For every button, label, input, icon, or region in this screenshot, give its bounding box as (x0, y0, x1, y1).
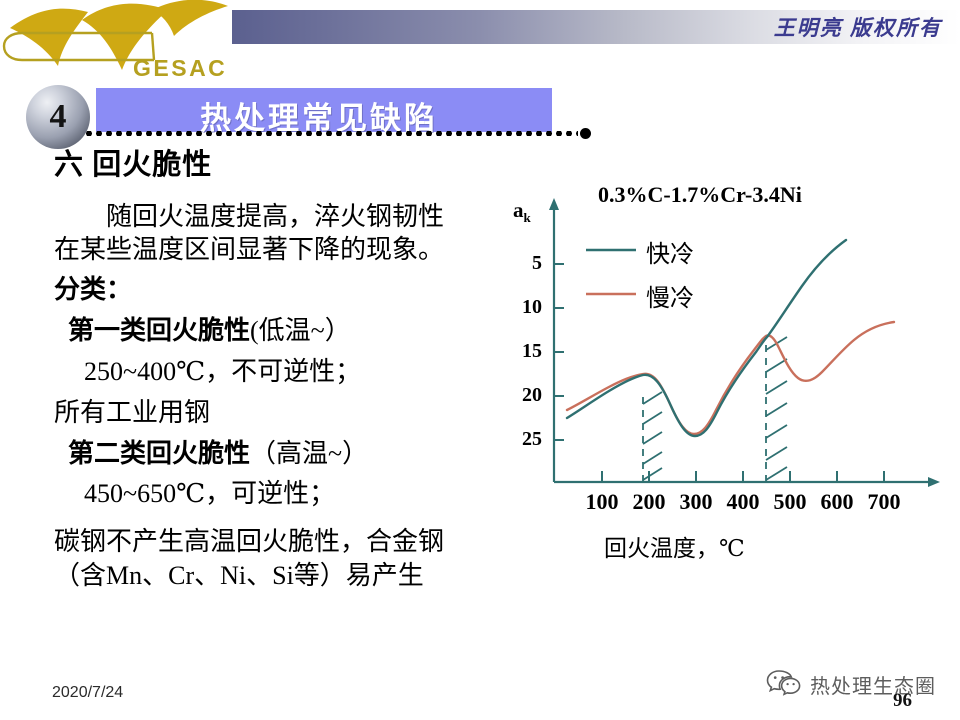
toughness-vs-tempering-temperature-chart: 0.3%C-1.7%Cr-3.4Ni ak (504, 182, 956, 562)
type1-title: 第一类回火脆性(低温~） (54, 314, 506, 348)
type2-range: 450~650℃，可逆性； (54, 477, 506, 511)
definition-line-1: 随回火温度提高，淬火钢韧性 (54, 200, 506, 233)
ytick-20: 20 (508, 384, 542, 407)
copyright-text: 王明亮 版权所有 (774, 12, 942, 42)
wechat-icon (766, 668, 802, 701)
ytick-15: 15 (508, 340, 542, 363)
footer-wechat-label: 热处理生态圈 (810, 670, 936, 699)
legend-label-slow-cool: 慢冷 (646, 278, 694, 313)
classification-label: 分类： (54, 273, 506, 307)
gesac-wordmark: GESAC (133, 55, 227, 82)
legend-label-fast-cool: 快冷 (646, 234, 694, 269)
xtick-500: 500 (763, 489, 817, 515)
type1-title-bold: 第一类回火脆性 (68, 316, 250, 345)
definition-line-2: 在某些温度区间显著下降的现象。 (54, 233, 506, 266)
note-line-1: 碳钢不产生高温回火脆性，合金钢 (54, 525, 506, 559)
xtick-700: 700 (857, 489, 911, 515)
type2-title-bold: 第二类回火脆性 (68, 439, 250, 468)
footer-date: 2020/7/24 (52, 684, 123, 702)
ytick-5: 5 (508, 252, 542, 275)
page-number: 96 (893, 690, 912, 712)
subsection-heading: 六 回火脆性 (54, 148, 506, 183)
content-column: 六 回火脆性 随回火温度提高，淬火钢韧性 在某些温度区间显著下降的现象。 分类：… (54, 148, 506, 593)
type1-title-suffix: (低温~） (250, 316, 351, 345)
xtick-300: 300 (669, 489, 723, 515)
title-dot-terminator (580, 128, 591, 139)
xtick-100: 100 (575, 489, 629, 515)
xtick-400: 400 (716, 489, 770, 515)
ytick-25: 25 (508, 428, 542, 451)
xtick-200: 200 (622, 489, 676, 515)
title-dotted-rule (84, 131, 578, 136)
type2-title: 第二类回火脆性（高温~） (54, 437, 506, 471)
type1-range: 250~400℃，不可逆性； (54, 355, 506, 389)
type2-title-suffix: （高温~） (250, 439, 368, 468)
section-number-badge: 4 (26, 85, 90, 149)
xtick-600: 600 (810, 489, 864, 515)
section-number-label: 4 (50, 100, 67, 134)
type1-scope: 所有工业用钢 (54, 396, 506, 430)
note-line-2: （含Mn、Cr、Ni、Si等）易产生 (54, 559, 506, 593)
chart-xaxis-title: 回火温度，℃ (604, 529, 745, 563)
ytick-10: 10 (508, 296, 542, 319)
